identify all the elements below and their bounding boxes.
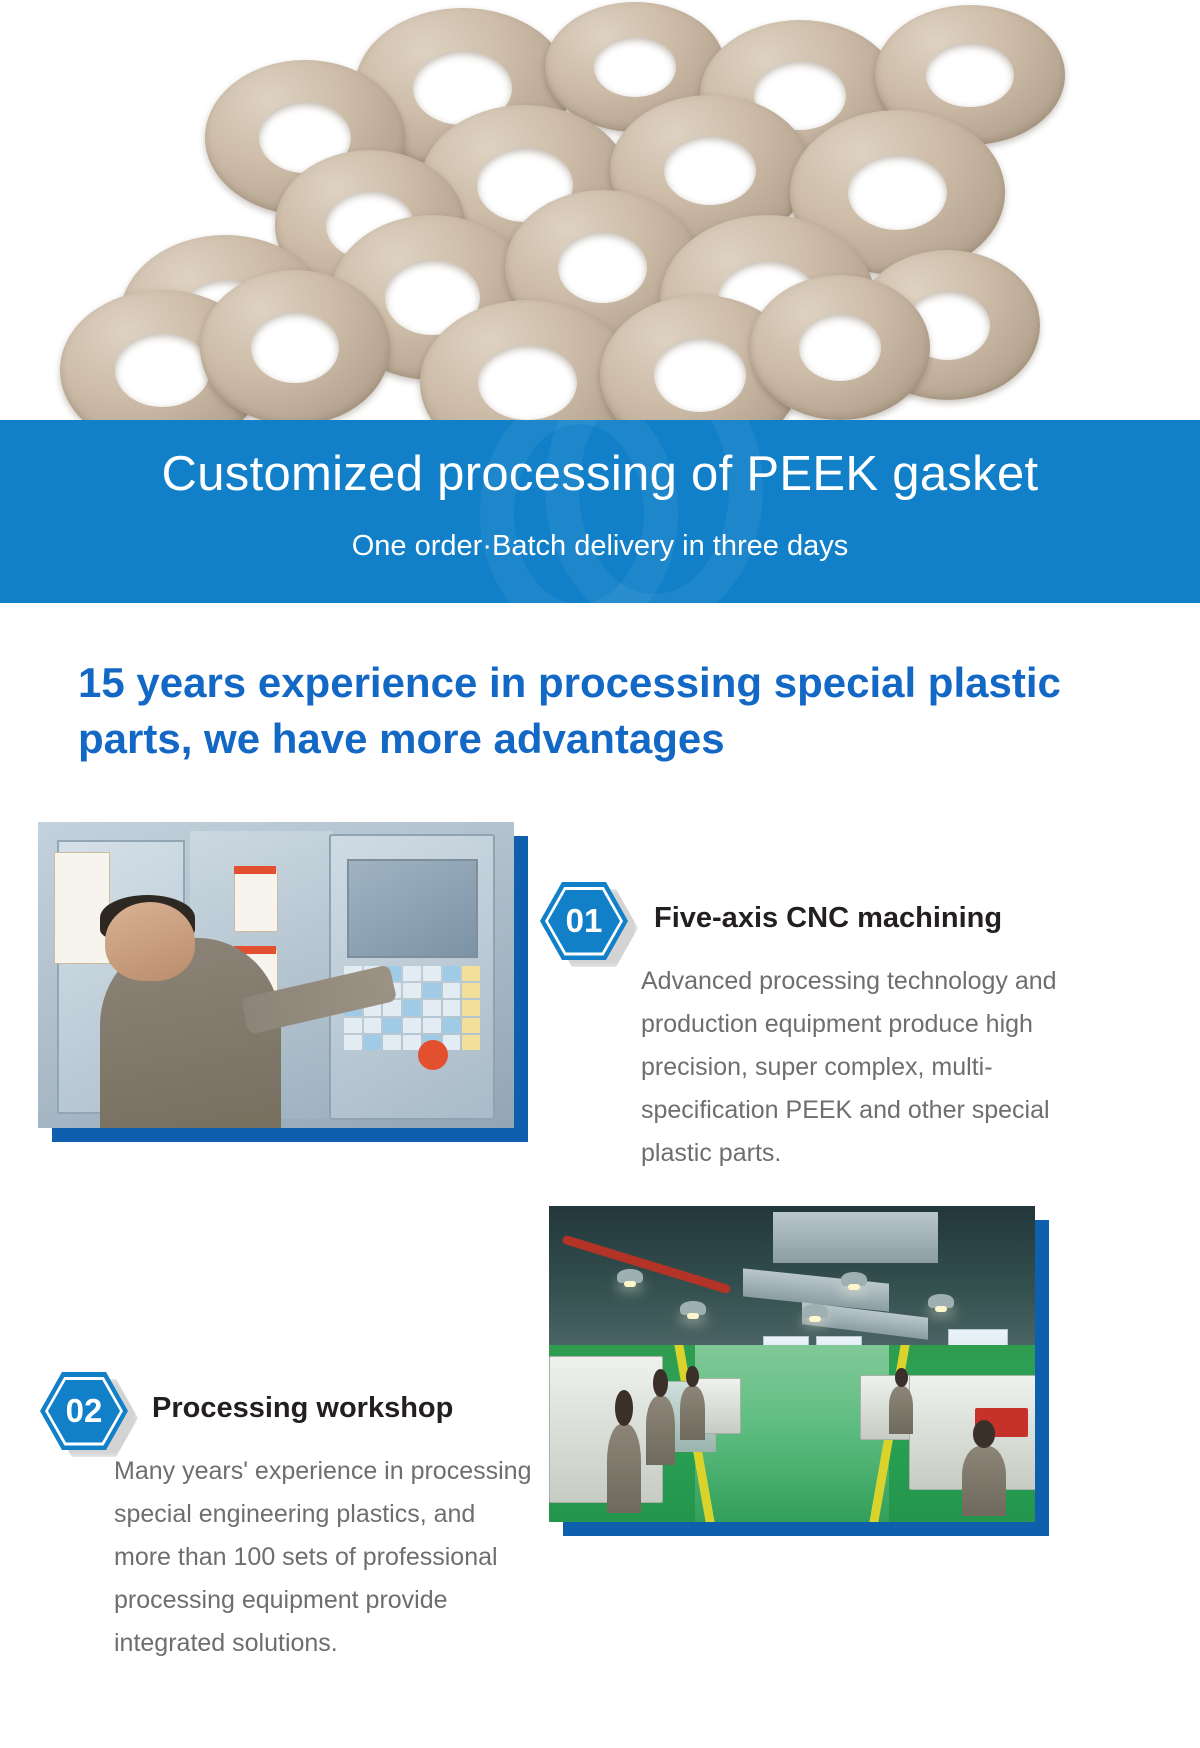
gasket-ring xyxy=(750,275,930,420)
feature-badge-01: 01 xyxy=(540,882,628,960)
badge-number: 02 xyxy=(40,1372,128,1450)
machine-label xyxy=(54,852,110,964)
worker-figure xyxy=(607,1424,641,1512)
ceiling-lamp-icon xyxy=(617,1269,643,1283)
emergency-stop-button xyxy=(418,1040,448,1070)
hero-product-image xyxy=(0,0,1200,425)
badge-number: 01 xyxy=(540,882,628,960)
feature-body-02: Many years' experience in processing spe… xyxy=(114,1450,534,1665)
ceiling-lamp-icon xyxy=(680,1301,706,1315)
feature-image-workshop xyxy=(549,1206,1049,1536)
feature-body-01: Advanced processing technology and produ… xyxy=(641,960,1071,1175)
gasket-ring xyxy=(200,270,390,425)
warning-label xyxy=(234,866,276,874)
feature-image-cnc xyxy=(38,822,528,1142)
worker-figure xyxy=(680,1386,704,1440)
worker-figure xyxy=(646,1396,675,1466)
ceiling-lamp-icon xyxy=(802,1304,828,1318)
frame-accent-right xyxy=(513,836,528,1142)
feature-badge-02: 02 xyxy=(40,1372,128,1450)
feature-title-01: Five-axis CNC machining xyxy=(654,902,1002,935)
cnc-photo xyxy=(38,822,514,1128)
machine-label xyxy=(234,870,278,932)
worker-head xyxy=(105,902,195,982)
panel-screen xyxy=(347,859,477,959)
air-duct xyxy=(773,1212,938,1263)
page-title: 15 years experience in processing specia… xyxy=(78,655,1078,768)
ceiling-lamp-icon xyxy=(841,1272,867,1286)
worker-figure xyxy=(962,1446,1006,1516)
frame-accent-bottom xyxy=(52,1127,528,1142)
banner-title: Customized processing of PEEK gasket xyxy=(0,446,1200,502)
workshop-photo xyxy=(549,1206,1035,1522)
title-banner: Customized processing of PEEK gasket One… xyxy=(0,420,1200,603)
ceiling-lamp-icon xyxy=(928,1294,954,1308)
worker-figure xyxy=(889,1386,913,1433)
feature-title-02: Processing workshop xyxy=(152,1392,453,1425)
banner-subtitle: One order·Batch delivery in three days xyxy=(0,530,1200,563)
frame-accent-bottom xyxy=(563,1521,1049,1536)
frame-accent-right xyxy=(1034,1220,1049,1536)
